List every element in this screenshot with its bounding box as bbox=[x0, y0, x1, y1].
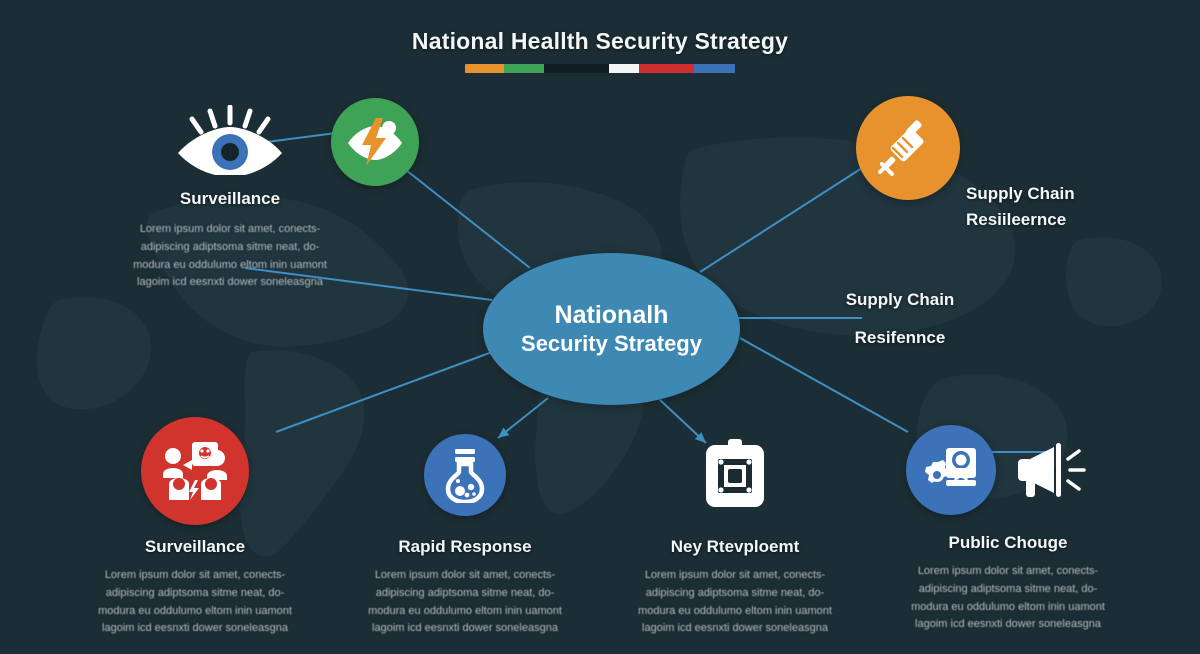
body-line: modura eu oddulumo eltom inin uamont bbox=[100, 257, 360, 275]
body-line: adipiscing adiptsoma sitme neat, do- bbox=[65, 585, 325, 603]
connector-center-to-syringe bbox=[700, 168, 862, 272]
body-line: modura eu oddulumo eltom inin uamont bbox=[878, 599, 1138, 617]
community-group-icon bbox=[141, 417, 249, 525]
node-heading-surveillance: Surveillance bbox=[100, 189, 360, 209]
node-heading-public-change: Public Chouge bbox=[878, 533, 1138, 553]
accent-segment-red bbox=[639, 64, 693, 73]
gear-badge-icon bbox=[906, 425, 996, 515]
node-body-public-change: Lorem ipsum dolor sit amet, conects- adi… bbox=[878, 563, 1138, 634]
infographic-canvas: National Heallth Security Strategy Natio… bbox=[0, 0, 1200, 654]
body-line: Lorem ipsum dolor sit amet, conects- bbox=[878, 563, 1138, 581]
body-line: adipiscing adiptsoma sitme neat, do- bbox=[100, 239, 360, 257]
heading-line-2: Resiileernce bbox=[966, 207, 1136, 233]
page-title: National Heallth Security Strategy bbox=[0, 28, 1200, 55]
center-node-line-1: Nationalh bbox=[555, 301, 669, 331]
node-supply-chain-label[interactable]: Supply Chain Resifennce bbox=[800, 290, 1000, 348]
node-body-rapid-response: Lorem ipsum dolor sit amet, conects- adi… bbox=[335, 567, 595, 638]
eye-bolt-icon bbox=[331, 98, 419, 186]
supply-chain-label-line-2: Resifennce bbox=[800, 328, 1000, 348]
body-line: modura eu oddulumo eltom inin uamont bbox=[335, 603, 595, 621]
center-node-line-2: Security Strategy bbox=[521, 330, 702, 358]
node-green-alert[interactable] bbox=[331, 98, 419, 186]
body-line: Lorem ipsum dolor sit amet, conects- bbox=[335, 567, 595, 585]
clipboard-frame-icon bbox=[704, 437, 766, 513]
accent-segment-orange bbox=[465, 64, 504, 73]
heading-line-1: Supply Chain bbox=[966, 181, 1136, 207]
body-line: lagoim icd eesnxti dower soneleasgna bbox=[100, 274, 360, 292]
body-line: lagoim icd eesnxti dower soneleasgna bbox=[878, 616, 1138, 634]
body-line: lagoim icd eesnxti dower soneleasgna bbox=[65, 620, 325, 638]
header: National Heallth Security Strategy bbox=[0, 28, 1200, 73]
node-heading-new-development: Ney Rtevploemt bbox=[605, 537, 865, 557]
flask-icon bbox=[424, 434, 506, 516]
node-heading-supply-chain-resilience: Supply Chain Resiileernce bbox=[966, 181, 1136, 234]
body-line: Lorem ipsum dolor sit amet, conects- bbox=[100, 221, 360, 239]
body-line: Lorem ipsum dolor sit amet, conects- bbox=[65, 567, 325, 585]
node-new-development[interactable]: Ney Rtevploemt Lorem ipsum dolor sit ame… bbox=[605, 425, 865, 638]
node-body-new-development: Lorem ipsum dolor sit amet, conects- adi… bbox=[605, 567, 865, 638]
node-supply-chain-syringe[interactable]: Supply Chain Resiileernce bbox=[856, 96, 960, 200]
node-body-surveillance: Lorem ipsum dolor sit amet, conects- adi… bbox=[100, 221, 360, 292]
connector-green-to-center bbox=[406, 170, 530, 268]
community-icon-wrap bbox=[65, 415, 325, 527]
node-rapid-response[interactable]: Rapid Response Lorem ipsum dolor sit ame… bbox=[335, 425, 595, 638]
accent-segment-dark bbox=[544, 64, 610, 73]
body-line: adipiscing adiptsoma sitme neat, do- bbox=[605, 585, 865, 603]
node-heading-community: Surveillance bbox=[65, 537, 325, 557]
node-public-change[interactable]: Public Chouge Lorem ipsum dolor sit amet… bbox=[878, 415, 1138, 634]
body-line: adipiscing adiptsoma sitme neat, do- bbox=[335, 585, 595, 603]
node-surveillance-eye[interactable]: Surveillance Lorem ipsum dolor sit amet,… bbox=[100, 105, 360, 292]
accent-segment-blue bbox=[694, 64, 735, 73]
body-line: lagoim icd eesnxti dower soneleasgna bbox=[335, 620, 595, 638]
body-line: adipiscing adiptsoma sitme neat, do- bbox=[878, 581, 1138, 599]
node-heading-rapid-response: Rapid Response bbox=[335, 537, 595, 557]
center-node-national-security-strategy[interactable]: Nationalh Security Strategy bbox=[483, 253, 740, 405]
node-community-group[interactable]: Surveillance Lorem ipsum dolor sit amet,… bbox=[65, 415, 325, 638]
accent-segment-green bbox=[504, 64, 543, 73]
node-body-community: Lorem ipsum dolor sit amet, conects- adi… bbox=[65, 567, 325, 638]
accent-segment-white bbox=[609, 64, 639, 73]
accent-color-bar bbox=[465, 64, 735, 73]
body-line: modura eu oddulumo eltom inin uamont bbox=[65, 603, 325, 621]
supply-chain-label-line-1: Supply Chain bbox=[800, 290, 1000, 310]
body-line: Lorem ipsum dolor sit amet, conects- bbox=[605, 567, 865, 585]
megaphone-icon bbox=[1012, 439, 1108, 501]
eye-icon bbox=[100, 105, 360, 175]
clipboard-icon-wrap bbox=[605, 425, 865, 525]
flask-icon-wrap bbox=[335, 425, 595, 525]
syringe-icon bbox=[856, 96, 960, 200]
body-line: lagoim icd eesnxti dower soneleasgna bbox=[605, 620, 865, 638]
body-line: modura eu oddulumo eltom inin uamont bbox=[605, 603, 865, 621]
public-change-icon-wrap bbox=[878, 415, 1138, 525]
